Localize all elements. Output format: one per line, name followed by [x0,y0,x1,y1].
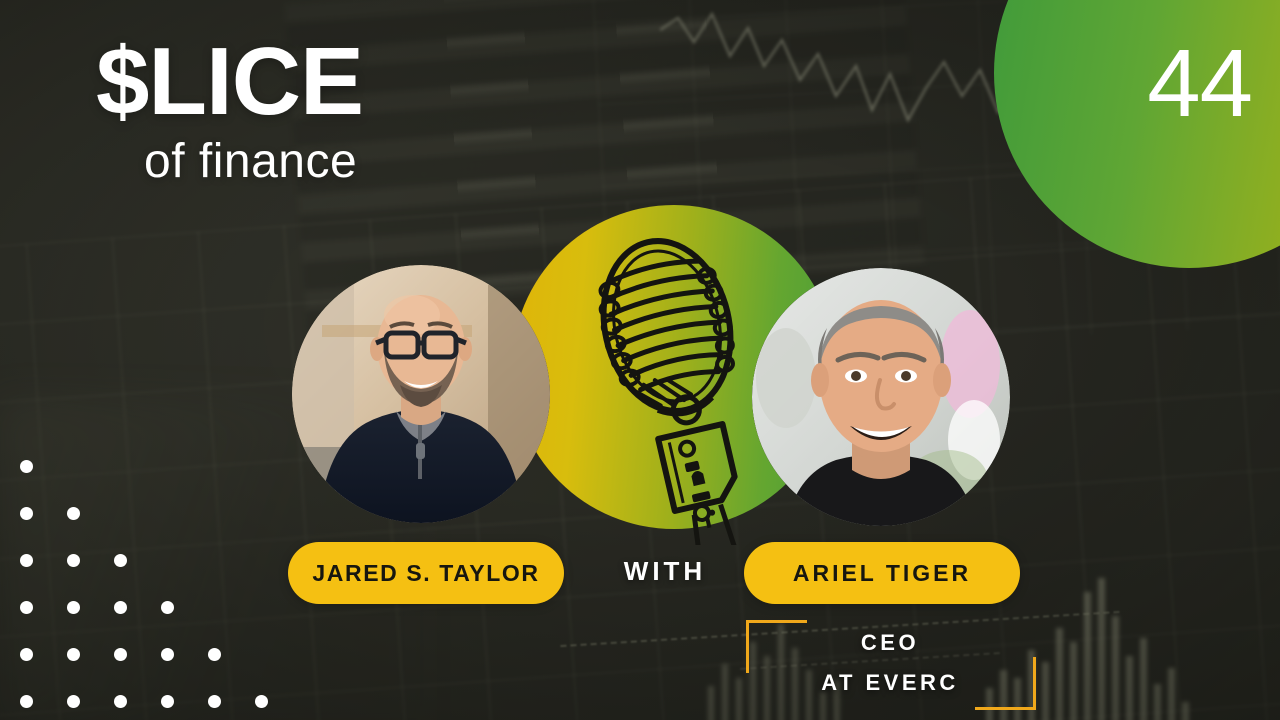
host-name-pill: JARED S. TAYLOR [288,542,564,604]
decorative-dot [20,648,33,661]
guest-role-title: CEO [861,630,919,656]
decorative-dot [20,695,33,708]
decorative-dot-grid [0,440,300,720]
decorative-dot [20,460,33,473]
logo-title: $LICE [96,36,363,128]
decorative-dot [20,601,33,614]
decorative-dot [255,695,268,708]
decorative-dot [208,695,221,708]
brand-logo: $LICE of finance [96,36,363,186]
decorative-dot [114,601,127,614]
decorative-dot [161,601,174,614]
decorative-dot [114,554,127,567]
guest-avatar [752,268,1010,526]
decorative-dot [20,554,33,567]
decorative-dot [67,601,80,614]
decorative-dot [67,507,80,520]
with-label: WITH [610,556,720,587]
decorative-dot [114,648,127,661]
guest-name-pill: ARIEL TIGER [744,542,1020,604]
decorative-dot [161,648,174,661]
logo-subtitle: of finance [144,138,363,186]
guest-role-company: AT EVERC [821,670,959,696]
decorative-dot [67,648,80,661]
guest-name-label: ARIEL TIGER [793,560,971,587]
decorative-dot [67,554,80,567]
decorative-dot [114,695,127,708]
host-avatar [292,265,550,523]
guest-role-block: CEO AT EVERC [740,612,1040,714]
decorative-dot [161,695,174,708]
decorative-dot [208,648,221,661]
host-name-label: JARED S. TAYLOR [312,560,539,587]
decorative-dot [67,695,80,708]
episode-number: 44 [1147,36,1252,132]
decorative-dot [20,507,33,520]
podcast-cover: 44 $LICE of finance [0,0,1280,720]
